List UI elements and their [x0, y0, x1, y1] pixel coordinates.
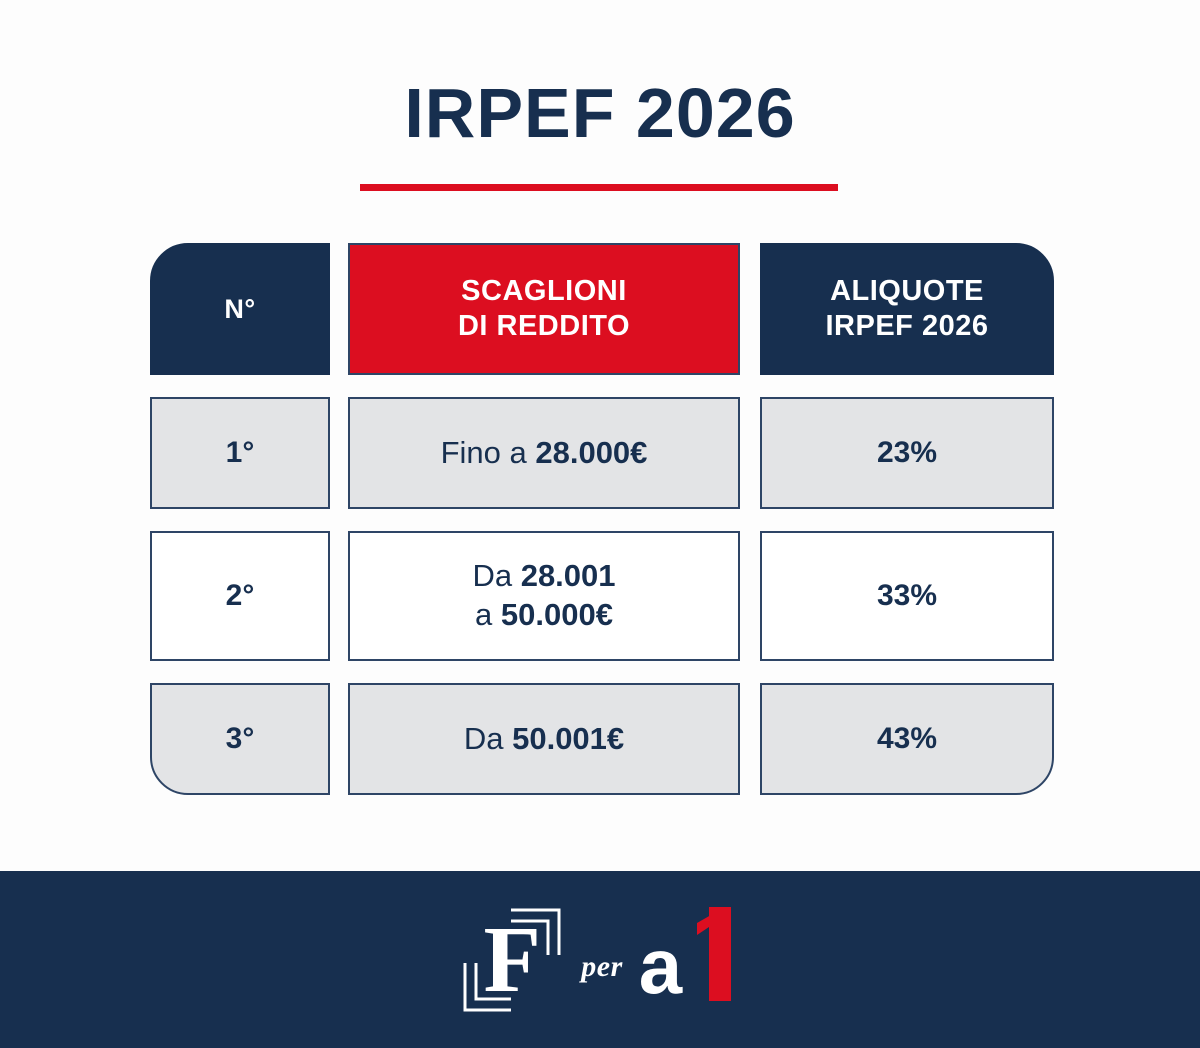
- row-scaglione-line2: a 50.000€: [472, 596, 615, 635]
- row-scaglione-line2-prefix: a: [475, 597, 501, 632]
- logo-f-mark: F: [453, 901, 571, 1019]
- title-underline-rule: [360, 184, 838, 191]
- column-header-aliquote-line2: IRPEF 2026: [826, 309, 989, 344]
- row-scaglione-prefix: Da: [472, 558, 520, 593]
- row-scaglione-prefix: Fino a: [441, 435, 536, 470]
- logo-ai-mark: a i: [639, 901, 747, 1019]
- row-aliquota: 33%: [760, 531, 1054, 661]
- column-header-aliquote-line1: ALIQUOTE: [826, 274, 989, 309]
- column-header-scaglioni: SCAGLIONI DI REDDITO: [348, 243, 740, 375]
- row-number: 2°: [150, 531, 330, 661]
- row-scaglione-line1: Da 28.001: [472, 557, 615, 596]
- table-row: 2° Da 28.001 a 50.000€ 33%: [150, 531, 1054, 661]
- footer-bar: F per a i: [0, 871, 1200, 1048]
- column-gap: [330, 683, 348, 795]
- column-header-aliquote: ALIQUOTE IRPEF 2026: [760, 243, 1054, 375]
- logo-connector-per: per: [581, 950, 623, 984]
- column-gap: [740, 531, 760, 661]
- logo-letter-f: F: [484, 913, 541, 1007]
- column-gap: [740, 397, 760, 509]
- column-gap: [740, 243, 760, 375]
- table-row: 1° Fino a 28.000€ 23%: [150, 397, 1054, 509]
- row-aliquota: 23%: [760, 397, 1054, 509]
- row-scaglione: Da 50.001€: [348, 683, 740, 795]
- row-scaglione-value: 28.000€: [535, 435, 647, 470]
- title-block: IRPEF 2026: [0, 78, 1200, 148]
- row-number: 1°: [150, 397, 330, 509]
- row-scaglione-line1: Fino a 28.000€: [441, 434, 648, 473]
- page-title: IRPEF 2026: [0, 78, 1200, 148]
- table-header-row: N° SCAGLIONI DI REDDITO ALIQUOTE IRPEF 2…: [150, 243, 1054, 375]
- row-scaglione: Fino a 28.000€: [348, 397, 740, 509]
- column-header-scaglioni-line1: SCAGLIONI: [458, 274, 630, 309]
- row-scaglione-line2-value: 50.000€: [501, 597, 613, 632]
- table-row: 3° Da 50.001€ 43%: [150, 683, 1054, 795]
- column-gap: [330, 397, 348, 509]
- column-header-number: N°: [150, 243, 330, 375]
- logo-letter-a: a: [639, 922, 682, 1010]
- row-aliquota: 43%: [760, 683, 1054, 795]
- column-gap: [740, 683, 760, 795]
- row-scaglione-prefix: Da: [464, 721, 512, 756]
- irpef-brackets-table: N° SCAGLIONI DI REDDITO ALIQUOTE IRPEF 2…: [150, 243, 1054, 795]
- row-number: 3°: [150, 683, 330, 795]
- logo-letter-i-icon: [689, 901, 745, 1019]
- column-gap: [330, 243, 348, 375]
- row-scaglione-line1: Da 50.001€: [464, 720, 624, 759]
- column-gap: [330, 531, 348, 661]
- brand-logo[interactable]: F per a i: [0, 871, 1200, 1048]
- row-scaglione: Da 28.001 a 50.000€: [348, 531, 740, 661]
- row-scaglione-value: 28.001: [521, 558, 616, 593]
- column-header-scaglioni-line2: DI REDDITO: [458, 309, 630, 344]
- row-scaglione-value: 50.001€: [512, 721, 624, 756]
